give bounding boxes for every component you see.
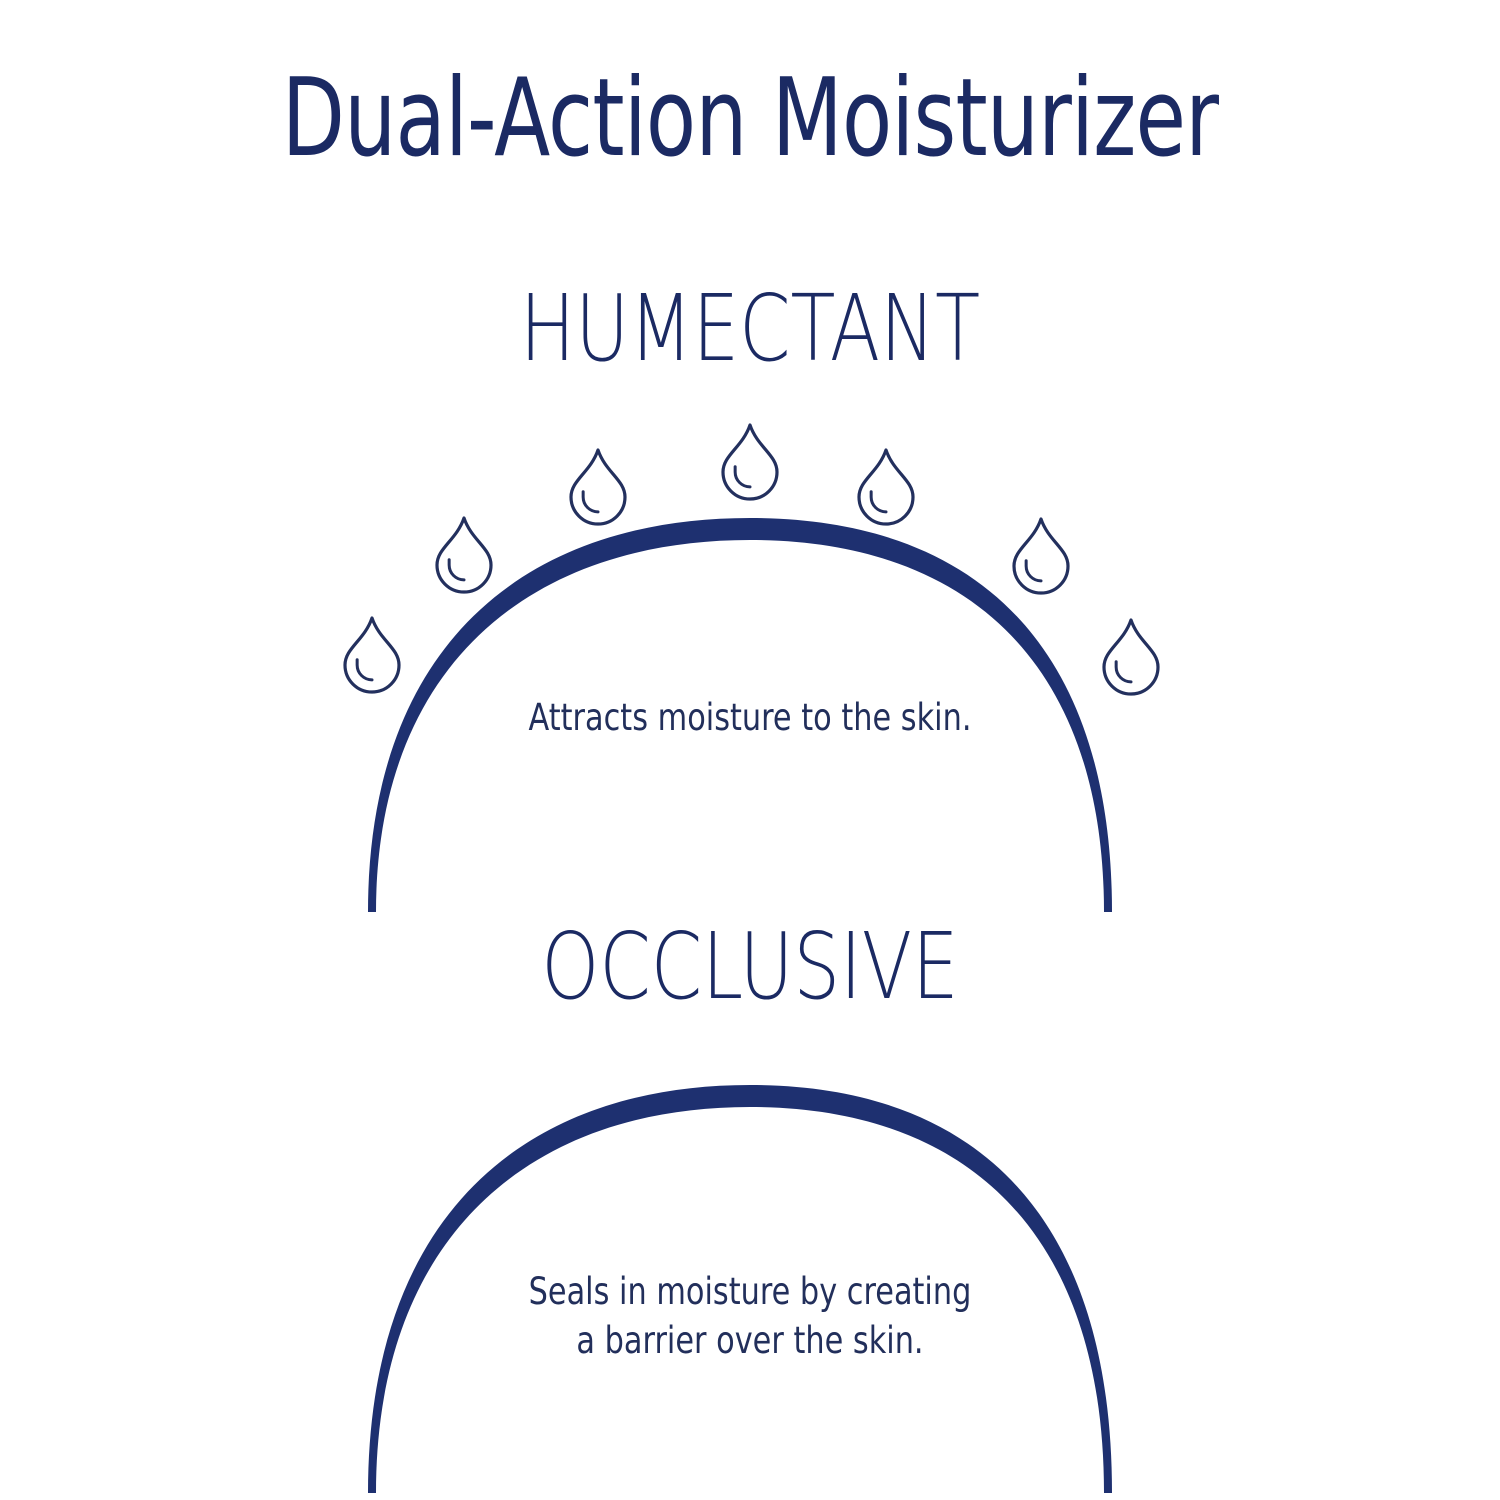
- water-droplet-icon: [1104, 620, 1158, 694]
- water-droplet-icon: [859, 450, 913, 524]
- droplet-highlight-arc: [871, 492, 886, 512]
- section-heading-humectant: HUMECTANT: [150, 281, 1350, 378]
- section-caption-humectant: Attracts moisture to the skin.: [135, 694, 1365, 743]
- water-droplet-icon: [437, 518, 491, 592]
- page-title: Dual-Action Moisturizer: [180, 62, 1320, 175]
- water-droplet-icon: [723, 425, 777, 499]
- droplet-highlight-arc: [735, 467, 750, 487]
- droplet-highlight-arc: [1116, 662, 1131, 682]
- water-droplet-icon: [571, 450, 625, 524]
- water-droplet-icon: [345, 618, 399, 692]
- water-droplet-icon: [1014, 519, 1068, 593]
- droplet-highlight-arc: [449, 560, 464, 580]
- infographic-canvas: Dual-Action Moisturizer HUMECTANT Attrac…: [0, 0, 1500, 1500]
- droplet-highlight-arc: [583, 492, 598, 512]
- droplet-highlight-arc: [357, 660, 372, 680]
- droplet-highlight-arc: [1026, 561, 1041, 581]
- section-caption-occlusive: Seals in moisture by creating a barrier …: [135, 1268, 1365, 1366]
- section-heading-occlusive: OCCLUSIVE: [150, 919, 1350, 1016]
